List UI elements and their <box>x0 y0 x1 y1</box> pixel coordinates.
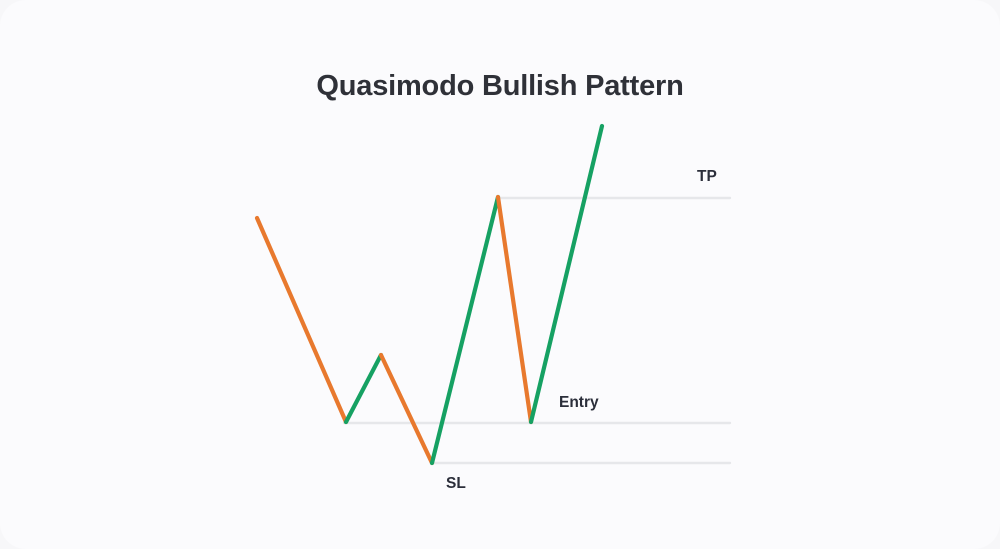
entry-level-label: Entry <box>559 394 599 412</box>
downtrend-leg-1 <box>257 218 346 422</box>
tp-level-label: TP <box>697 168 717 186</box>
price-path <box>257 126 602 463</box>
level-lines <box>344 198 730 463</box>
rally-leg-1 <box>346 355 381 422</box>
chart-card: Quasimodo Bullish Pattern TP Entry SL <box>0 0 1000 549</box>
breakout-leg <box>531 126 602 422</box>
downtrend-leg-3 <box>498 197 531 422</box>
downtrend-leg-2 <box>381 355 432 463</box>
quasimodo-bullish-pattern-chart: Quasimodo Bullish Pattern TP Entry SL <box>0 0 1000 549</box>
sl-level-label: SL <box>446 475 466 493</box>
price-plot <box>0 0 1000 549</box>
